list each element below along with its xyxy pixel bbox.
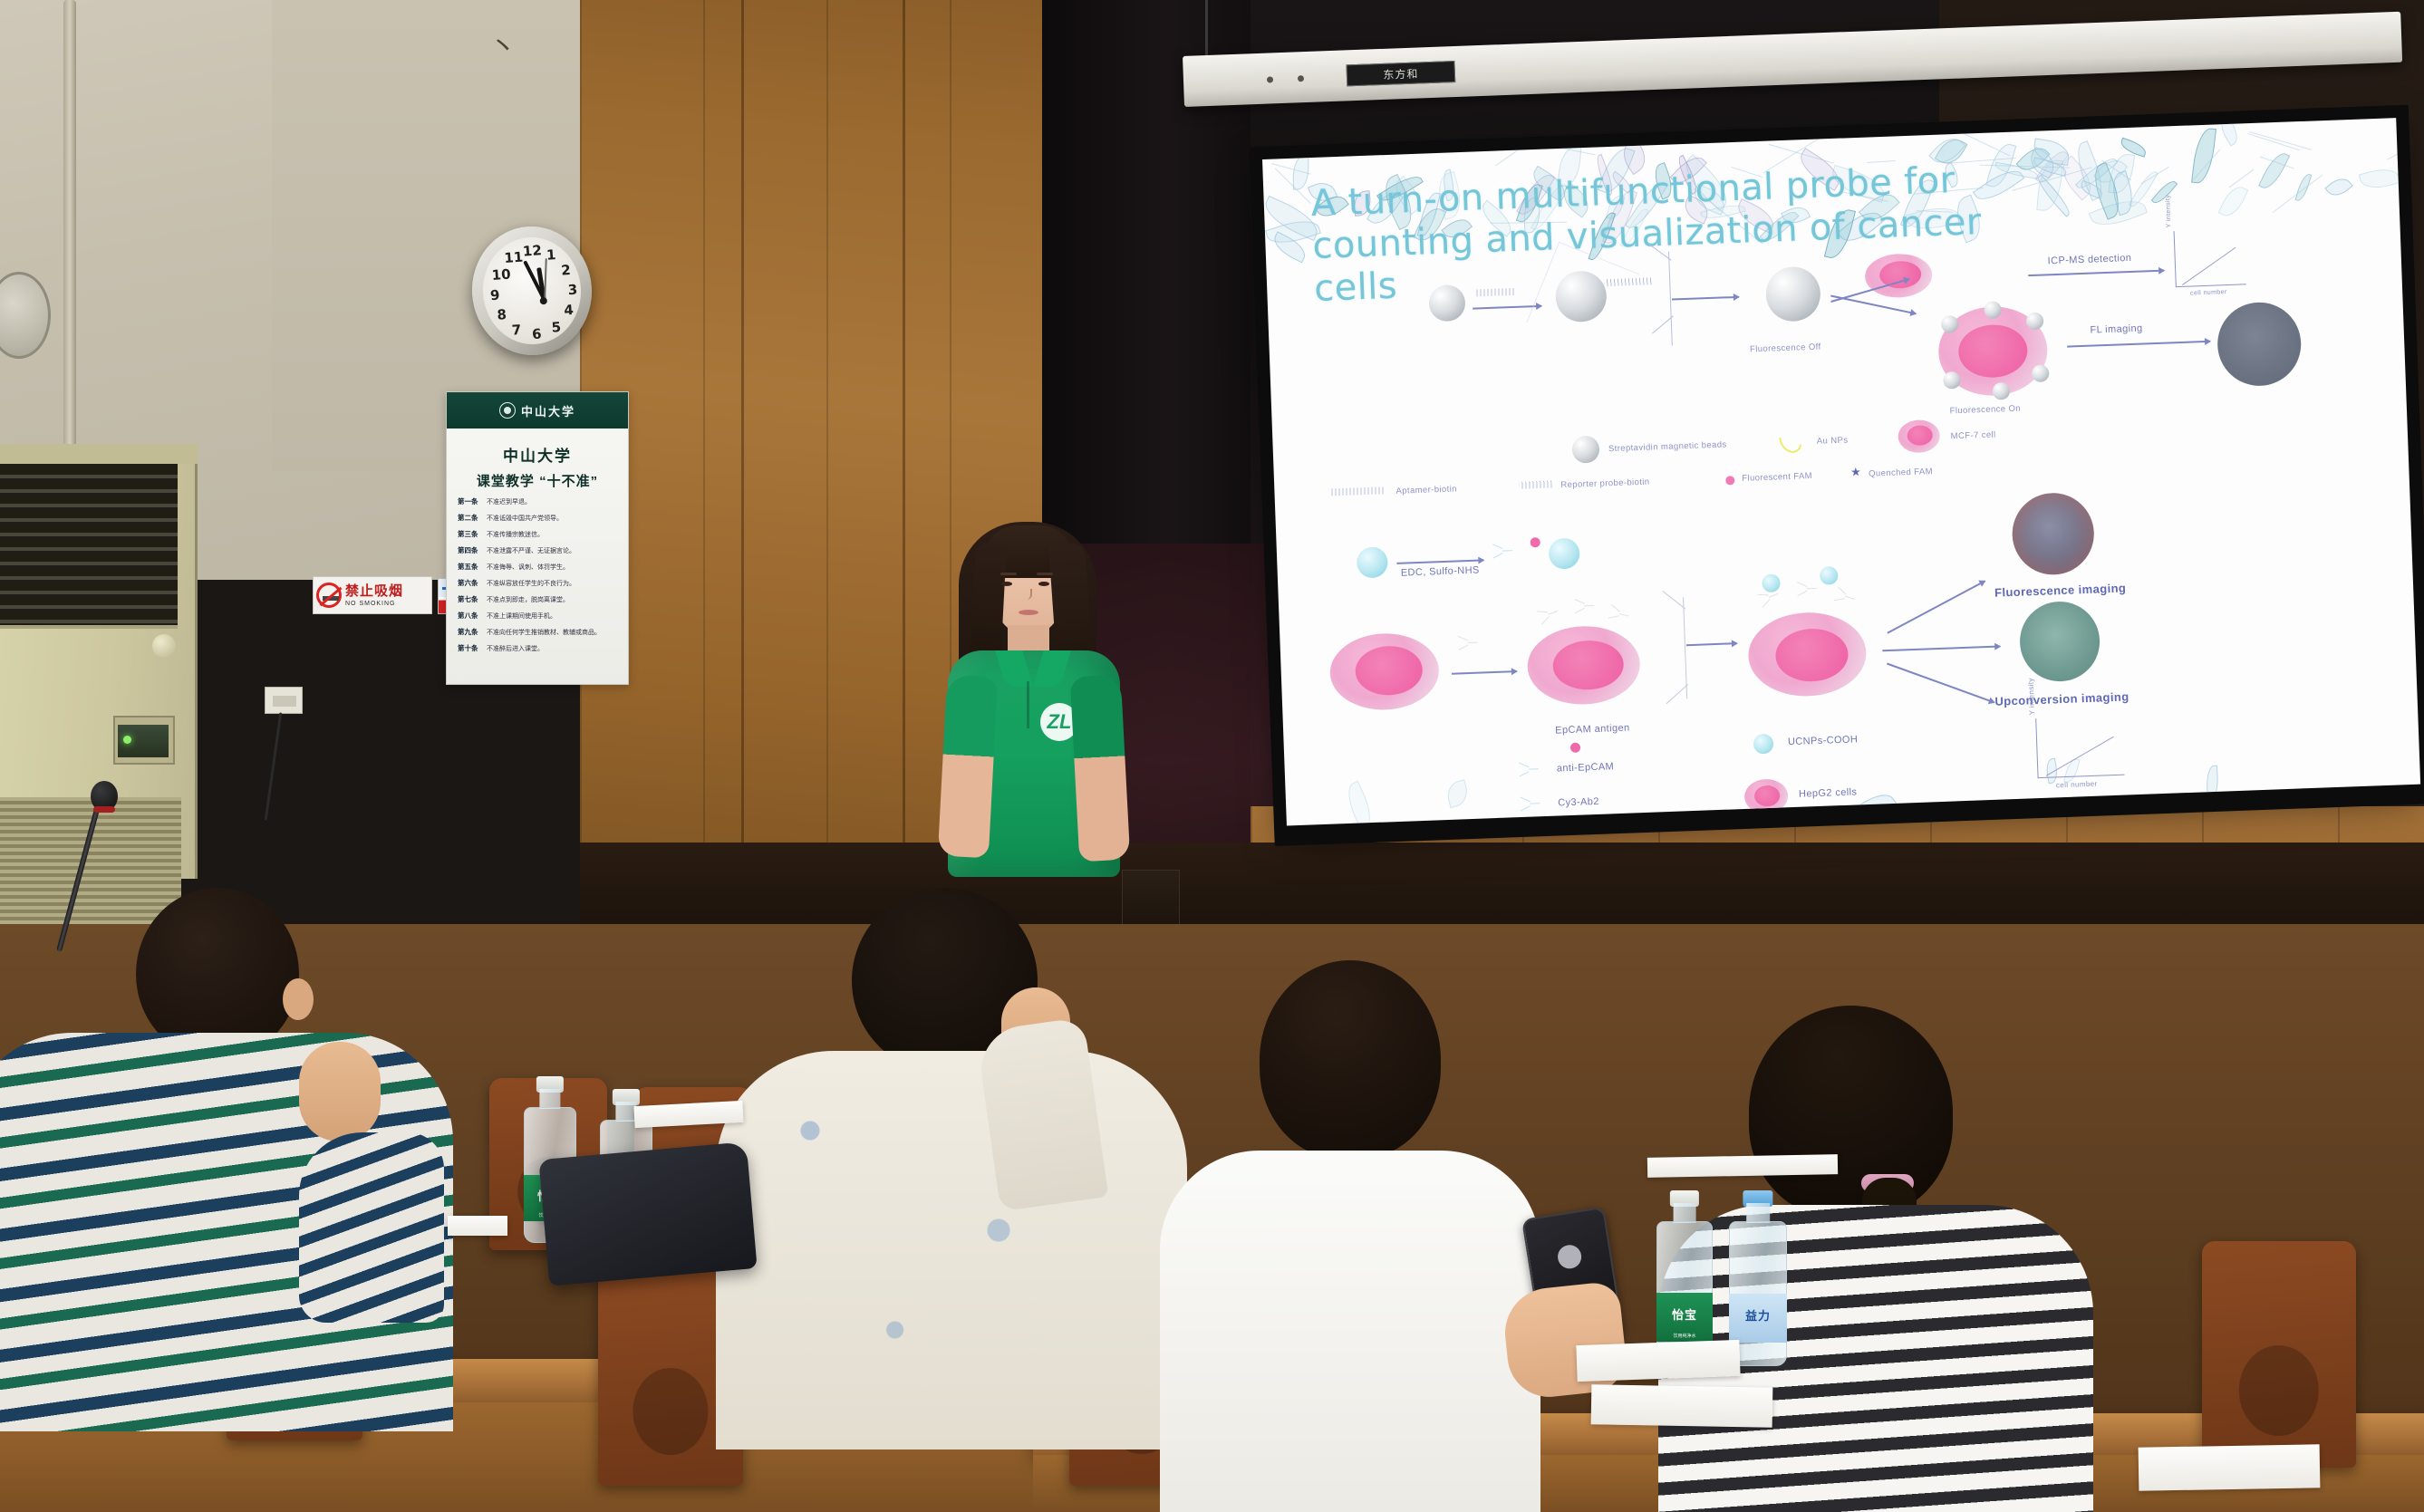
bottle-label: 益力 xyxy=(1729,1294,1787,1343)
classroom-rules-poster: 中山大学 中山大学 课堂教学 “十不准” 第一条不准迟到早退。第二条不准诋毁中国… xyxy=(446,391,629,685)
poster-rule-text: 不准诋毁中国共产党领导。 xyxy=(487,515,563,523)
legend-quenched-star-icon: ★ xyxy=(1850,466,1861,477)
legend-epcam-marker xyxy=(1570,743,1580,753)
clock-numeral: 4 xyxy=(561,302,576,319)
bottle-neck xyxy=(1674,1203,1696,1223)
sandwich-complex-cell-icon xyxy=(1747,611,1868,698)
screen-suspension-cord xyxy=(1205,0,1208,58)
wood-seam xyxy=(741,0,744,915)
leaf-icon xyxy=(1444,779,1471,808)
poster-title-line1: 中山大学 xyxy=(447,443,628,466)
presenter-shirt-placket xyxy=(1027,681,1029,728)
wall-scuff-mark: 丶 xyxy=(489,36,506,60)
poster-rule-text: 不准侮辱、讽刺、体罚学生。 xyxy=(487,564,569,572)
presenter-arm-right xyxy=(1070,675,1131,862)
legend-antiepcam-label: anti-EpCAM xyxy=(1557,761,1615,774)
hanging-cable xyxy=(265,712,283,820)
wall-conduit-pipe xyxy=(63,0,76,507)
legend-aptamer-marker xyxy=(1328,486,1385,496)
poster-rule-number: 第五条 xyxy=(458,562,481,572)
edc-reaction-arrow xyxy=(1396,559,1483,563)
clock-numeral: 5 xyxy=(548,319,564,336)
legend-mcf7-marker xyxy=(1898,419,1940,454)
stem-icon xyxy=(2228,169,2254,188)
handout-paper[interactable] xyxy=(1647,1154,1838,1178)
poster-rule-row: 第十条不准醉后进入课堂。 xyxy=(458,637,617,653)
hepg2-cell-with-ab-icon xyxy=(1526,624,1641,706)
icpms-arrow xyxy=(2028,270,2164,276)
output-arrow-fluorescence xyxy=(1887,580,1985,633)
poster-rule-row: 第五条不准侮辱、讽刺、体罚学生。 xyxy=(458,555,617,572)
bottle-subtitle: 饮用纯净水 xyxy=(1656,1333,1713,1339)
bottle-neck xyxy=(1746,1203,1770,1223)
poster-rule-text: 不准泄露不严谨、无证据言论。 xyxy=(487,548,575,555)
plot-x-axis xyxy=(2176,284,2246,287)
attendee-1-ear xyxy=(283,978,314,1020)
ac-knob[interactable] xyxy=(152,634,176,658)
attendee-3-head xyxy=(1260,960,1441,1160)
stem-icon xyxy=(1496,147,1524,167)
poster-rule-text: 不准点到即走，脱岗离课堂。 xyxy=(487,597,569,604)
poster-rule-number: 第九条 xyxy=(458,627,481,637)
icpms-plot-x-label: cell number xyxy=(2056,780,2098,790)
sandwich-arrow xyxy=(1686,642,1737,646)
clock-numeral: 9 xyxy=(488,286,503,303)
clock-numeral: 8 xyxy=(494,306,509,323)
legend-mcf7-label: MCF-7 cell xyxy=(1951,430,1996,442)
projection-screen: A turn-on multifunctional probe for coun… xyxy=(1262,118,2420,825)
legend-cy3ab2-marker xyxy=(1520,796,1540,812)
legend-aunp-marker xyxy=(1775,425,1806,457)
poster-rule-text: 不准迟到早退。 xyxy=(487,499,531,506)
poster-rule-text: 不准醉后进入课堂。 xyxy=(487,646,544,653)
icpms-detection-label: ICP-MS detection xyxy=(2047,253,2131,266)
fluorescence-on-label: Fluorescence On xyxy=(1949,404,2021,417)
presenter-eye xyxy=(1038,582,1049,586)
bead-on-cell xyxy=(2032,364,2050,382)
aptamer-squiggle-icon xyxy=(1473,288,1515,297)
poster-rule-text: 不准传播宗教迷信。 xyxy=(487,532,544,539)
clock-numeral: 2 xyxy=(558,262,574,279)
chair[interactable] xyxy=(2202,1241,2356,1468)
leaf-icon xyxy=(2218,183,2248,221)
clock-face: 12 1 2 3 4 5 6 7 8 9 10 11 xyxy=(479,234,584,347)
slide-surface: A turn-on multifunctional probe for coun… xyxy=(1262,118,2420,825)
housing-screw xyxy=(1267,76,1273,82)
attendee-2-body-floral-shirt xyxy=(716,1051,1187,1449)
fluorescence-imaging-label: Fluorescence imaging xyxy=(1994,581,2127,599)
leaf-icon xyxy=(2150,178,2177,207)
wall-power-outlet[interactable] xyxy=(265,687,303,714)
antibody-on-cell xyxy=(1537,604,1560,625)
antibody-on-cell xyxy=(1608,605,1630,624)
clock-numeral: 12 xyxy=(522,243,537,260)
magnetic-bead-icon xyxy=(1428,284,1465,322)
attendee-3-body-white-tshirt xyxy=(1160,1151,1540,1512)
poster-rule-row: 第七条不准点到即走，脱岗离课堂。 xyxy=(458,588,617,604)
presenter-speaker: ZL xyxy=(924,516,1142,924)
poster-rule-number: 第三条 xyxy=(458,529,481,539)
edc-sulfo-nhs-label: EDC, Sulfo-NHS xyxy=(1401,565,1480,579)
plot-x-label: cell number xyxy=(2190,289,2227,296)
output-arrow-icpms xyxy=(1887,663,1994,703)
output-arrow-upconversion xyxy=(1882,646,2000,651)
handout-paper[interactable] xyxy=(1576,1340,1740,1382)
poster-rule-row: 第八条不准上课期间使用手机。 xyxy=(458,604,617,621)
fl-micrograph xyxy=(2216,301,2303,387)
poster-rule-row: 第四条不准泄露不严谨、无证据言论。 xyxy=(458,539,617,555)
handout-paper[interactable] xyxy=(2139,1444,2321,1490)
upconversion-imaging-label: Upconversion imaging xyxy=(1994,689,2129,708)
legend-hepg2-label: HepG2 cells xyxy=(1799,786,1858,799)
ac-top-cap xyxy=(0,444,198,464)
plot-y-axis xyxy=(2174,231,2178,287)
bottle-brand: 怡宝 xyxy=(1656,1305,1713,1323)
mcf7-cell-icon xyxy=(1864,253,1933,299)
clock-numeral: 11 xyxy=(504,249,519,266)
poster-rule-number: 第二条 xyxy=(458,513,481,523)
clock-numeral: 6 xyxy=(529,325,545,342)
poster-brand: 中山大学 xyxy=(521,402,575,419)
ucnp-on-cell xyxy=(1820,566,1839,585)
ac-louver-vent xyxy=(0,464,178,629)
antibody-icon xyxy=(1492,544,1513,559)
poster-rule-row: 第九条不准向任何学生推销教材、教辅或商品。 xyxy=(458,621,617,637)
y-linker-arm xyxy=(1666,684,1689,704)
no-smoking-sign: 禁止吸烟 NO SMOKING xyxy=(313,576,432,614)
small-card[interactable] xyxy=(448,1216,507,1236)
attendee-1-arm xyxy=(299,1132,444,1323)
fluorescence-micrograph xyxy=(2011,492,2095,576)
fl-imaging-label: FL imaging xyxy=(2090,323,2142,336)
presenter-arm-left xyxy=(938,675,998,859)
ucnp-on-cell xyxy=(1762,573,1781,592)
poster-rule-number: 第十条 xyxy=(458,643,481,653)
laptop-bag[interactable] xyxy=(538,1141,757,1286)
bottle-neck xyxy=(539,1089,560,1109)
poster-rule-row: 第一条不准迟到早退。 xyxy=(458,490,617,506)
poster-header-band: 中山大学 xyxy=(447,392,628,429)
stem-icon xyxy=(2140,166,2169,184)
legend-aptamer-label: Aptamer-biotin xyxy=(1395,484,1457,496)
clock-center-pin xyxy=(540,297,548,305)
no-smoking-label-en: NO SMOKING xyxy=(345,601,403,607)
poster-rule-number: 第八条 xyxy=(458,611,481,621)
legend-antiepcam-marker xyxy=(1519,762,1540,777)
stem-icon xyxy=(2249,131,2311,150)
stem-icon xyxy=(2273,174,2323,213)
poster-title-line2: 课堂教学 “十不准” xyxy=(447,471,628,490)
ucnp-conjugate-icon xyxy=(1549,537,1580,569)
poster-rule-text: 不准纵容放任学生的不良行为。 xyxy=(487,581,575,588)
housing-screw xyxy=(1298,75,1304,82)
clock-numeral: 10 xyxy=(491,266,507,284)
leaf-icon xyxy=(1341,781,1377,825)
clock-numeral: 7 xyxy=(508,322,524,339)
legend-fam-marker xyxy=(1725,476,1734,485)
wood-seam xyxy=(903,0,905,915)
poster-rule-row: 第三条不准传播宗教迷信。 xyxy=(458,523,617,539)
leaf-icon xyxy=(2258,149,2290,192)
lecture-hall-photo: 丶 12 1 2 3 4 5 6 7 8 9 10 11 xyxy=(0,0,2424,1512)
plot-trend-line xyxy=(2182,247,2236,286)
bottle-label: 怡宝 饮用纯净水 xyxy=(1656,1293,1713,1342)
ac-power-led xyxy=(123,736,131,744)
presenter-eyebrow xyxy=(1037,573,1053,575)
no-smoking-label-cn: 禁止吸烟 xyxy=(345,584,403,598)
poster-rule-row: 第二条不准诋毁中国共产党领导。 xyxy=(458,506,617,523)
poster-rule-number: 第六条 xyxy=(458,578,481,588)
antibody-on-cell xyxy=(1574,599,1595,614)
presenter-mouth xyxy=(1019,610,1038,615)
presenter-eye xyxy=(1001,582,1012,586)
bead-on-cell xyxy=(1943,371,1961,390)
poster-rule-number: 第七条 xyxy=(458,594,481,604)
phone-screen-icon xyxy=(1556,1243,1583,1270)
legend-epcam-label: EpCAM antigen xyxy=(1555,723,1630,737)
legend-reporter-label: Reporter probe-biotin xyxy=(1560,477,1650,491)
cell-binding-arrow xyxy=(1452,670,1517,674)
bottle-brand: 益力 xyxy=(1729,1306,1787,1324)
badge-glyph: ZL xyxy=(1048,710,1072,734)
hepg2-cell-icon xyxy=(1328,631,1440,711)
bead-on-cell xyxy=(2026,313,2044,331)
attendee-3-hand xyxy=(1501,1281,1629,1401)
attendee-1-hand xyxy=(299,1042,381,1141)
icpms-plot-trend-line xyxy=(2046,737,2114,776)
poster-rule-number: 第一条 xyxy=(458,496,481,506)
legend-fam-label: Fluorescent FAM xyxy=(1742,471,1812,484)
no-smoking-icon xyxy=(316,583,342,608)
bead-on-cell xyxy=(1993,382,2011,400)
icpms-plot-y-axis xyxy=(2035,718,2039,778)
legend-ucnp-marker xyxy=(1753,734,1774,755)
clock-numeral: 3 xyxy=(565,281,580,298)
poster-rule-row: 第六条不准纵容放任学生的不良行为。 xyxy=(458,572,617,588)
icpms-plot-y-label: Y intensity xyxy=(2027,678,2037,715)
upconversion-micrograph xyxy=(2019,601,2101,683)
leaf-icon xyxy=(2359,164,2401,193)
branch-arrow-down xyxy=(1830,295,1916,314)
presenter-eyebrow xyxy=(1000,573,1017,575)
poster-rule-text: 不准向任何学生推销教材、教辅或商品。 xyxy=(487,630,601,637)
legend-aunp-label: Au NPs xyxy=(1817,436,1849,447)
sysu-logo-icon xyxy=(499,402,516,419)
epcam-dot-icon xyxy=(1530,537,1540,547)
fl-imaging-arrow xyxy=(2067,341,2210,347)
fluorescence-off-label: Fluorescence Off xyxy=(1750,342,1821,355)
microphone-red-ring xyxy=(93,806,115,813)
projector-brand-label: 东方和 xyxy=(1346,61,1455,86)
poster-rule-number: 第四条 xyxy=(458,545,481,555)
legend-reporter-marker xyxy=(1519,481,1551,489)
poster-rule-text: 不准上课期间使用手机。 xyxy=(487,613,556,621)
handout-paper[interactable] xyxy=(1591,1384,1773,1427)
plot-y-label: Y intensity xyxy=(2165,195,2172,228)
legend-ucnp-label: UCNPs-COOH xyxy=(1788,734,1859,747)
antibody-on-cell xyxy=(1833,587,1857,606)
antibody-on-cell xyxy=(1796,582,1817,597)
leaf-icon xyxy=(2324,174,2353,202)
antibody-icon xyxy=(1457,636,1478,651)
legend-cy3ab2-label: Cy3-Ab2 xyxy=(1558,796,1599,809)
attendee-4-head xyxy=(1749,1006,1953,1218)
legend-bead-marker xyxy=(1571,436,1599,464)
stem-icon xyxy=(2247,133,2299,150)
ucnp-icon xyxy=(1357,546,1388,578)
legend-quenched-label: Quenched FAM xyxy=(1869,467,1933,479)
legend-bead-label: Streptavidin magnetic beads xyxy=(1608,439,1727,454)
